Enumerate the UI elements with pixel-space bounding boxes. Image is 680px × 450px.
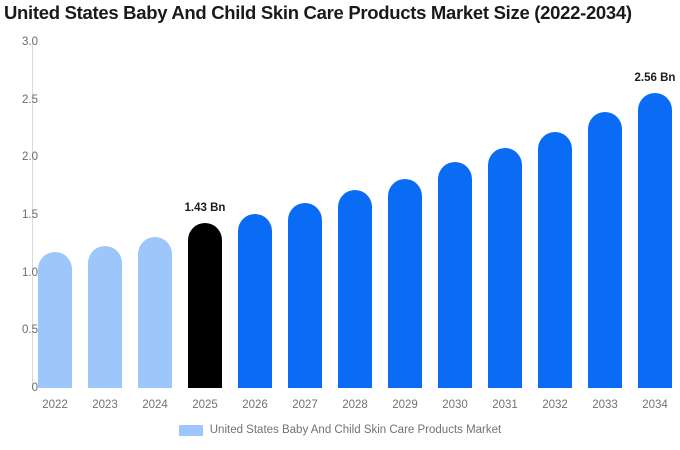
x-axis-tick-label: 2025 [180,399,230,411]
y-axis-tick-label: 0.5 [8,324,38,336]
y-axis-tick-label: 0 [8,382,38,394]
bar-2022[interactable] [38,252,72,388]
y-axis-tick-label: 1.0 [8,267,38,279]
bar-2029[interactable] [388,179,422,388]
x-axis-tick-label: 2030 [430,399,480,411]
y-axis-tick-label: 2.0 [8,151,38,163]
legend-swatch-icon [179,425,203,436]
y-axis-tick-label: 3.0 [8,36,38,48]
x-axis-tick-label: 2023 [80,399,130,411]
x-axis-tick-label: 2029 [380,399,430,411]
bar-2028[interactable] [338,190,372,388]
plot-area: 00.51.01.52.02.53.0 1.43 Bn2.56 Bn 20222… [0,0,680,450]
bar-2025[interactable] [188,223,222,388]
legend-label: United States Baby And Child Skin Care P… [210,424,501,436]
x-axis-tick-label: 2032 [530,399,580,411]
bar-2026[interactable] [238,214,272,388]
bar-2024[interactable] [138,237,172,388]
bar-2027[interactable] [288,203,322,388]
x-axis-tick-label: 2033 [580,399,630,411]
x-axis-tick-label: 2024 [130,399,180,411]
bar-value-label-2034: 2.56 Bn [620,72,680,84]
bar-chart: United States Baby And Child Skin Care P… [0,0,680,450]
x-axis-tick-label: 2028 [330,399,380,411]
bar-value-label-2025: 1.43 Bn [170,202,240,214]
bar-2031[interactable] [488,148,522,388]
x-axis-tick-label: 2027 [280,399,330,411]
x-axis-tick-label: 2026 [230,399,280,411]
chart-legend: United States Baby And Child Skin Care P… [0,424,680,436]
y-axis-tick-label: 2.5 [8,94,38,106]
bar-2030[interactable] [438,162,472,388]
x-axis-tick-label: 2022 [30,399,80,411]
x-axis-tick-label: 2031 [480,399,530,411]
bar-2032[interactable] [538,132,572,388]
bar-2034[interactable] [638,93,672,388]
bar-2033[interactable] [588,112,622,388]
x-axis-tick-label: 2034 [630,399,680,411]
y-axis-tick-label: 1.5 [8,209,38,221]
bar-2023[interactable] [88,246,122,388]
